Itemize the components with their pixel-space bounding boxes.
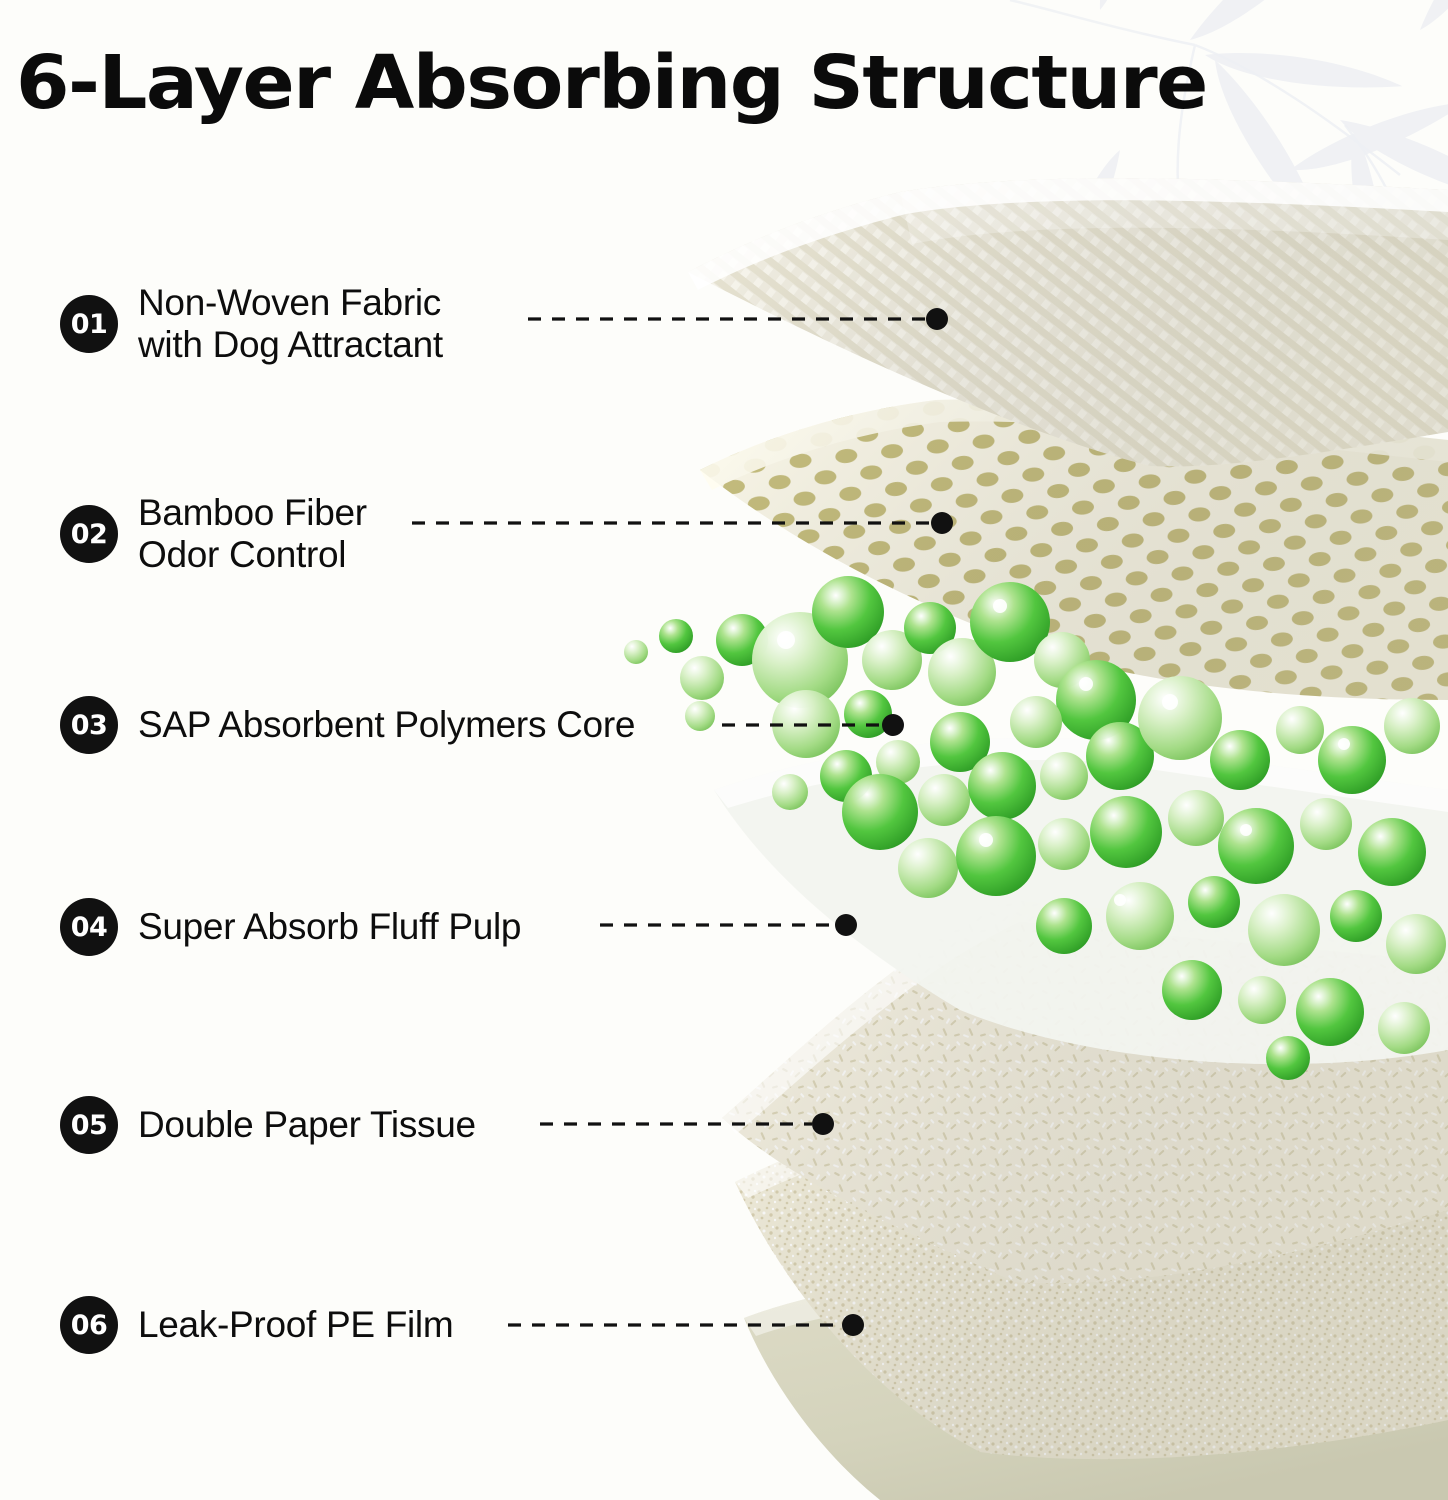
layer-label-03: SAP Absorbent Polymers Core — [138, 704, 635, 746]
layer-label-row-03[interactable]: 03 SAP Absorbent Polymers Core — [60, 696, 635, 754]
layer-badge-06: 06 — [60, 1296, 118, 1354]
layer-non-woven-fabric — [688, 178, 1448, 466]
infographic-stage: 6-Layer Absorbing Structure — [0, 0, 1448, 1500]
layer-label-row-05[interactable]: 05 Double Paper Tissue — [60, 1096, 476, 1154]
layer-badge-01: 01 — [60, 295, 118, 353]
layer-badge-02: 02 — [60, 505, 118, 563]
layer-label-02: Bamboo Fiber Odor Control — [138, 492, 367, 576]
layer-label-row-01[interactable]: 01 Non-Woven Fabric with Dog Attractant — [60, 282, 443, 366]
layer-label-row-02[interactable]: 02 Bamboo Fiber Odor Control — [60, 492, 367, 576]
layer-label-04: Super Absorb Fluff Pulp — [138, 906, 521, 948]
layer-label-06: Leak-Proof PE Film — [138, 1304, 453, 1346]
layer-label-01: Non-Woven Fabric with Dog Attractant — [138, 282, 443, 366]
layer-badge-04: 04 — [60, 898, 118, 956]
layer-badge-03: 03 — [60, 696, 118, 754]
layer-label-row-04[interactable]: 04 Super Absorb Fluff Pulp — [60, 898, 521, 956]
layer-badge-05: 05 — [60, 1096, 118, 1154]
layer-label-row-06[interactable]: 06 Leak-Proof PE Film — [60, 1296, 453, 1354]
page-title: 6-Layer Absorbing Structure — [16, 46, 1207, 120]
layer-label-05: Double Paper Tissue — [138, 1104, 476, 1146]
